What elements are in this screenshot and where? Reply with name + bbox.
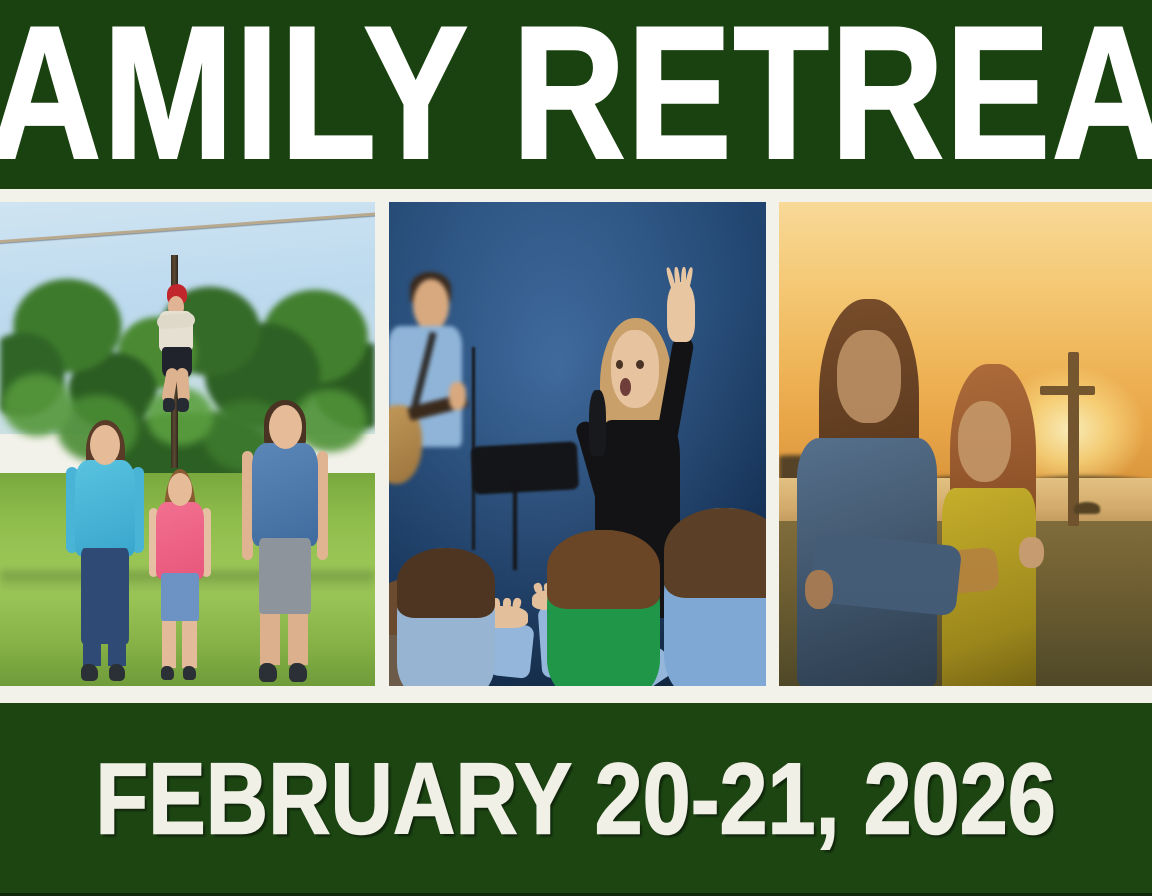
raised-hand	[667, 282, 695, 342]
grey-shorts	[259, 538, 312, 614]
worship-scene	[389, 202, 766, 686]
event-date: FEBRUARY 20-21, 2026	[96, 749, 1056, 850]
congregant	[547, 530, 660, 686]
head	[611, 330, 660, 408]
zipline-family-photo	[0, 202, 375, 686]
pink-top	[156, 502, 204, 579]
photo-strip	[0, 202, 1152, 686]
jeans	[81, 548, 129, 644]
finger	[503, 598, 512, 609]
worship-service-photo	[389, 202, 766, 686]
arm-right	[317, 451, 328, 559]
hair	[547, 530, 660, 609]
hair	[664, 508, 766, 598]
father-figure	[244, 405, 327, 676]
shoe-left	[259, 663, 277, 682]
top-divider-band	[0, 189, 1152, 202]
cross-icon	[1068, 352, 1079, 526]
family-retreat-poster: FAMILY RETREAT	[0, 0, 1152, 896]
guitar-hand	[449, 382, 466, 410]
blue-shirt	[252, 443, 318, 546]
denim-shorts	[161, 573, 199, 622]
teal-jacket	[75, 460, 135, 556]
shoe-left	[161, 666, 174, 680]
title-banner: FAMILY RETREAT	[0, 0, 1152, 189]
shoe-right	[183, 666, 196, 680]
page-title: FAMILY RETREAT	[0, 15, 1152, 170]
finger	[512, 597, 523, 609]
zipline-scene	[0, 202, 375, 686]
finger	[533, 583, 543, 595]
rider-shoe-right	[177, 398, 189, 412]
zipline-rider	[146, 284, 206, 420]
head	[269, 405, 302, 448]
mother-figure	[794, 299, 973, 686]
hand	[1019, 537, 1043, 568]
shoe-right	[289, 663, 307, 682]
girl-figure	[150, 473, 210, 676]
congregant	[664, 508, 766, 686]
sunset-embrace-photo	[779, 202, 1152, 686]
head	[168, 473, 192, 506]
hair	[397, 548, 495, 619]
head	[90, 425, 120, 465]
microphone	[589, 390, 606, 456]
shoe-left	[81, 664, 98, 682]
shoe-right	[109, 664, 126, 682]
date-banner: FEBRUARY 20-21, 2026	[0, 703, 1152, 896]
raised-arm	[488, 622, 535, 679]
hand	[805, 570, 834, 609]
bush	[1074, 502, 1100, 514]
arm	[809, 531, 962, 616]
sunset-scene	[779, 202, 1152, 686]
rider-shoe-left	[163, 398, 175, 412]
congregant	[397, 548, 495, 686]
congregation	[389, 463, 766, 686]
head	[413, 279, 449, 330]
mother-figure	[68, 425, 143, 677]
bottom-divider-band	[0, 686, 1152, 703]
head	[837, 330, 901, 423]
